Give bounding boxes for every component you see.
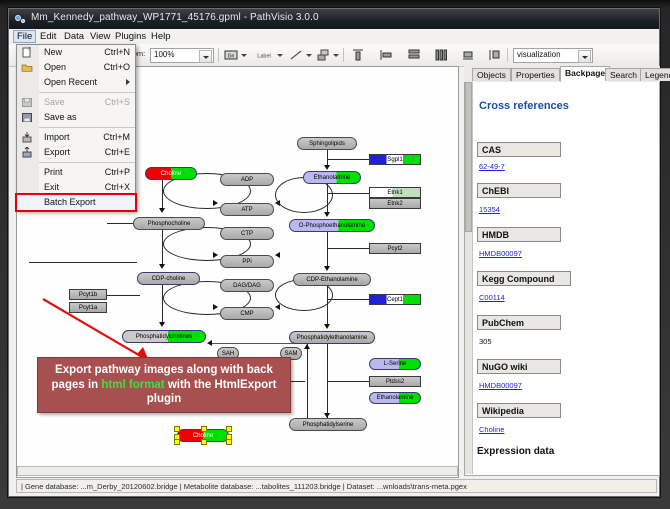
backpage-scrollbar[interactable] (465, 82, 473, 474)
pathway-node-ptdserine[interactable]: Phosphatidylserine (289, 418, 367, 431)
connector (29, 262, 137, 263)
db-value-wikipedia: Choline (479, 425, 504, 434)
gene-product-icon[interactable]: Gn (224, 48, 238, 62)
db-label: Kegg Compound (482, 274, 555, 284)
menu-edit[interactable]: Edit (36, 30, 60, 43)
application-window: Mm_Kennedy_pathway_WP1771_45176.gpml - P… (8, 8, 660, 497)
backpage-content: Cross references CAS 62-49-7 ChEBI 15354… (464, 82, 660, 476)
db-label: CAS (482, 145, 501, 155)
toolbar-separator (507, 48, 508, 62)
pathway-node-label: Ethanolamine (314, 175, 351, 181)
file-menu-popup[interactable]: New Ctrl+N Open Ctrl+O Open Recent (16, 44, 136, 211)
selection-handle[interactable] (226, 439, 232, 445)
db-link[interactable]: 62-49-7 (479, 162, 505, 171)
pathway-node-label: Choline (161, 171, 181, 177)
menu-item-label: Save (44, 97, 65, 107)
menu-item-accel: Ctrl+E (105, 147, 130, 157)
screenshot-root: Mm_Kennedy_pathway_WP1771_45176.gpml - P… (0, 0, 670, 509)
menu-item-accel: Ctrl+S (105, 97, 130, 107)
arrow-icon (213, 200, 218, 206)
menu-item-import[interactable]: Import Ctrl+M (17, 130, 135, 145)
selection-handle[interactable] (174, 439, 180, 445)
save-as-icon (21, 112, 33, 123)
menu-item-label: Exit (44, 182, 59, 192)
side-panel-tabs[interactable]: Objects Properties Backpage Search Legen… (464, 66, 660, 83)
label-icon[interactable]: Label (253, 48, 275, 62)
pathway-node-etnk1[interactable]: Etnk1 (369, 187, 421, 198)
pathway-node-label: Pcyt2 (387, 246, 402, 252)
db-link[interactable]: HMDB00097 (479, 249, 522, 258)
pathway-node-label: CTP (241, 231, 253, 237)
align-top-icon[interactable] (351, 48, 365, 62)
pathway-node-label: Etnk1 (387, 190, 402, 196)
pathway-node-ptdss2[interactable]: Ptdss2 (369, 376, 421, 387)
menu-item-label: Open Recent (44, 77, 97, 87)
arrow-icon (324, 324, 330, 329)
db-value-nugo: HMDB00097 (479, 381, 522, 390)
visualization-value: visualization (517, 50, 561, 59)
canvas-horizontal-scrollbar[interactable] (17, 466, 458, 476)
new-file-icon (21, 47, 33, 58)
selection-handle[interactable] (201, 426, 207, 432)
status-text: | Gene database: ...m_Derby_20120602.bri… (21, 482, 467, 491)
arrow-icon (213, 304, 218, 310)
menu-item-accel: Ctrl+X (105, 182, 130, 192)
menu-item-label: Export (44, 147, 70, 157)
pathway-node-ethanolamine2[interactable]: Ethanolamine (369, 392, 421, 404)
arrow-icon (213, 252, 218, 258)
db-value-hmdb: HMDB00097 (479, 249, 522, 258)
tab-objects[interactable]: Objects (472, 68, 511, 81)
menu-data[interactable]: Data (60, 30, 88, 43)
import-icon (21, 132, 33, 143)
pathway-node-phosphocholine[interactable]: Phosphocholine (133, 217, 205, 230)
save-disk-icon (21, 97, 33, 108)
arrow-icon (324, 165, 330, 170)
line-dropdown-icon[interactable] (306, 52, 313, 59)
pathway-node-ptdethanol[interactable]: Phosphatidylethanolamine (289, 331, 375, 344)
menu-item-label: Batch Export (44, 197, 96, 207)
export-icon (21, 147, 33, 158)
arrow-icon (304, 344, 310, 349)
menu-item-open[interactable]: Open Ctrl+O (17, 60, 135, 75)
pathway-node-label: Choline (193, 433, 213, 439)
pathway-node-label: DAG/DAG (233, 283, 261, 289)
annotation-text-after: with the HtmlExport plugin (147, 379, 277, 405)
arrow-icon (207, 340, 212, 346)
menu-help[interactable]: Help (147, 30, 175, 43)
connector (327, 299, 371, 300)
zoom-combo[interactable]: 100% (150, 48, 214, 63)
pathway-node-label: Phosphatidylethanolamine (297, 335, 367, 341)
menu-item-label: Save as (44, 112, 77, 122)
toolbar-separator (343, 48, 344, 62)
window-title: Mm_Kennedy_pathway_WP1771_45176.gpml - P… (31, 12, 319, 23)
svg-text:Label: Label (257, 54, 270, 60)
db-header-hmdb: HMDB (477, 227, 561, 242)
pathway-node-label: PPi (242, 259, 251, 265)
pathway-node-label: ADP (241, 177, 253, 183)
db-link[interactable]: 15354 (479, 205, 500, 214)
expression-data-title: Expression data (477, 446, 554, 457)
svg-text:Gn: Gn (228, 54, 235, 60)
pathway-node-label: Ethanolamine (377, 395, 414, 401)
annotation-highlight: html format (101, 379, 164, 391)
db-label: PubChem (482, 318, 524, 328)
common-width-icon[interactable] (461, 48, 475, 62)
chevron-down-icon[interactable] (578, 50, 591, 63)
pathway-node-etnk2[interactable]: Etnk2 (369, 198, 421, 209)
toolbar-separator (218, 48, 219, 62)
selection-handle[interactable] (226, 426, 232, 432)
pathway-node-label: CDP-choline (152, 276, 186, 282)
submenu-arrow-icon (126, 79, 130, 85)
db-label: HMDB (482, 230, 509, 240)
pathway-node-sgpl1[interactable]: Sgpl1 (369, 154, 421, 165)
pathway-node-label: Etnk2 (387, 201, 402, 207)
menu-item-accel: Ctrl+M (103, 132, 130, 142)
pathway-node-label: CDP-Ethanolamine (306, 277, 357, 283)
pathway-node-sphingolipids[interactable]: Sphingolipids (297, 137, 357, 150)
common-height-icon[interactable] (488, 48, 502, 62)
distribute-horizontal-icon[interactable] (434, 48, 448, 62)
selection-handle[interactable] (174, 426, 180, 432)
menu-item-print[interactable]: Print Ctrl+P (17, 165, 135, 180)
title-bar: Mm_Kennedy_pathway_WP1771_45176.gpml - P… (9, 9, 659, 30)
db-value-chebi: 15354 (479, 205, 500, 214)
db-label: Wikipedia (482, 406, 524, 416)
connector (327, 193, 371, 194)
pathway-node-label: O-Phosphoethanolamine (299, 223, 365, 229)
pathway-node-o-phosphoetn[interactable]: O-Phosphoethanolamine (289, 219, 375, 232)
gene-dropdown-icon[interactable] (241, 52, 248, 59)
shape-dropdown-icon[interactable] (333, 52, 340, 59)
pathway-node-l-serine[interactable]: L-Serine (369, 358, 421, 370)
connector (327, 248, 371, 249)
line-icon[interactable] (289, 48, 303, 62)
connector (327, 381, 371, 382)
pathway-node-ethanolamine1[interactable]: Ethanolamine (303, 171, 361, 184)
pathway-node-label: Sphingolipids (309, 141, 345, 147)
tab-properties[interactable]: Properties (511, 68, 560, 81)
align-left-icon[interactable] (379, 48, 393, 62)
menu-item-label: Import (44, 132, 70, 142)
pathway-node-label: L-Serine (384, 361, 407, 367)
pathway-node-ctp[interactable]: CTP (220, 227, 274, 240)
connector (327, 344, 328, 418)
stack-vertical-icon[interactable] (407, 48, 421, 62)
pathway-node-cdp-choline[interactable]: CDP-choline (137, 272, 200, 285)
menu-file[interactable]: File (13, 30, 36, 43)
pathway-node-label: ATP (241, 207, 252, 213)
shape-icon[interactable] (316, 48, 330, 62)
pathway-node-cmp[interactable]: CMP (220, 307, 274, 320)
menu-item-accel: Ctrl+O (104, 62, 130, 72)
pathway-node-atp[interactable]: ATP (220, 203, 274, 216)
zoom-value: 100% (154, 50, 174, 59)
db-header-nugo: NuGO wiki (477, 359, 561, 374)
pathway-node-adp[interactable]: ADP (220, 173, 274, 186)
menu-item-label: Print (44, 167, 63, 177)
pathway-node-label: Cept1 (387, 297, 403, 303)
tab-search[interactable]: Search (605, 68, 642, 81)
menu-item-label: Open (44, 62, 66, 72)
pathway-node-pcyt2[interactable]: Pcyt2 (369, 243, 421, 254)
connector (162, 230, 163, 265)
menu-item-new[interactable]: New Ctrl+N (17, 45, 135, 60)
pathway-node-label: Phosphocholine (148, 221, 191, 227)
arrow-icon (159, 208, 165, 213)
arrow-icon (324, 266, 330, 271)
annotation-text: Export pathway images along with back pa… (38, 363, 290, 406)
connector (327, 159, 371, 160)
pathway-node-label: Phosphatidylserine (303, 422, 354, 428)
menu-plugins[interactable]: Plugins (111, 30, 150, 43)
pathway-node-label: Ptdss2 (386, 379, 404, 385)
db-header-kegg: Kegg Compound (477, 271, 571, 286)
annotation-callout: Export pathway images along with back pa… (37, 357, 291, 413)
status-bar: | Gene database: ...m_Derby_20120602.bri… (16, 479, 657, 493)
menu-item-exit[interactable]: Exit Ctrl+X (17, 180, 135, 195)
pathway-node-cept1[interactable]: Cept1 (369, 294, 421, 305)
db-link[interactable]: Choline (479, 425, 504, 434)
cross-references-title: Cross references (479, 100, 569, 112)
db-header-wikipedia: Wikipedia (477, 403, 561, 418)
db-value-cas: 62-49-7 (479, 162, 505, 171)
tab-backpage[interactable]: Backpage (560, 66, 610, 82)
label-dropdown-icon[interactable] (277, 52, 284, 59)
selection-handle[interactable] (201, 439, 207, 445)
pathway-node-label: Sgpl1 (387, 157, 402, 163)
connector (307, 344, 308, 424)
pathway-node-cdp-ethanol[interactable]: CDP-Ethanolamine (293, 273, 371, 286)
menu-item-accel: Ctrl+P (105, 167, 130, 177)
chevron-down-icon[interactable] (199, 50, 212, 63)
db-label: ChEBI (482, 186, 509, 196)
arrow-icon (275, 252, 280, 258)
db-link[interactable]: C00114 (479, 293, 505, 302)
pathway-node-ppi[interactable]: PPi (220, 255, 274, 268)
scrollbar-thumb[interactable] (465, 82, 472, 232)
menu-item-batch-export[interactable]: Batch Export (17, 195, 135, 210)
pathway-node-label: SAH (222, 351, 234, 357)
db-header-pubchem: PubChem (477, 315, 561, 330)
menu-item-save: Save Ctrl+S (17, 95, 135, 110)
arrow-icon (324, 212, 330, 217)
menu-item-label: New (44, 47, 62, 57)
db-link[interactable]: HMDB00097 (479, 381, 522, 390)
connector (327, 232, 328, 268)
db-label: NuGO wiki (482, 362, 528, 372)
pathway-node-label: SAM (284, 351, 297, 357)
pathway-node-choline[interactable]: Choline (145, 167, 197, 180)
connector (107, 295, 140, 296)
arrow-icon (275, 304, 280, 310)
connector (107, 223, 135, 224)
open-folder-icon (21, 62, 33, 73)
db-header-cas: CAS (477, 142, 561, 157)
db-value-pubchem: 305 (479, 337, 492, 346)
arrow-icon (159, 264, 165, 269)
menu-item-export[interactable]: Export Ctrl+E (17, 145, 135, 160)
menu-item-save-as[interactable]: Save as (17, 110, 135, 125)
side-panel[interactable]: Objects Properties Backpage Search Legen… (464, 66, 660, 476)
tab-legend[interactable]: Legend (640, 68, 670, 81)
menu-bar[interactable]: File Edit Data View Plugins Help (9, 29, 659, 45)
menu-item-accel: Ctrl+N (104, 47, 130, 57)
db-header-chebi: ChEBI (477, 183, 561, 198)
visualization-combo[interactable]: visualization (513, 48, 593, 63)
db-value-kegg: C00114 (479, 293, 505, 302)
menu-item-open-recent[interactable]: Open Recent (17, 75, 135, 90)
pathway-node-dagdag[interactable]: DAG/DAG (220, 279, 274, 292)
pathway-node-label: CMP (240, 311, 253, 317)
pathvisio-icon (14, 13, 26, 25)
